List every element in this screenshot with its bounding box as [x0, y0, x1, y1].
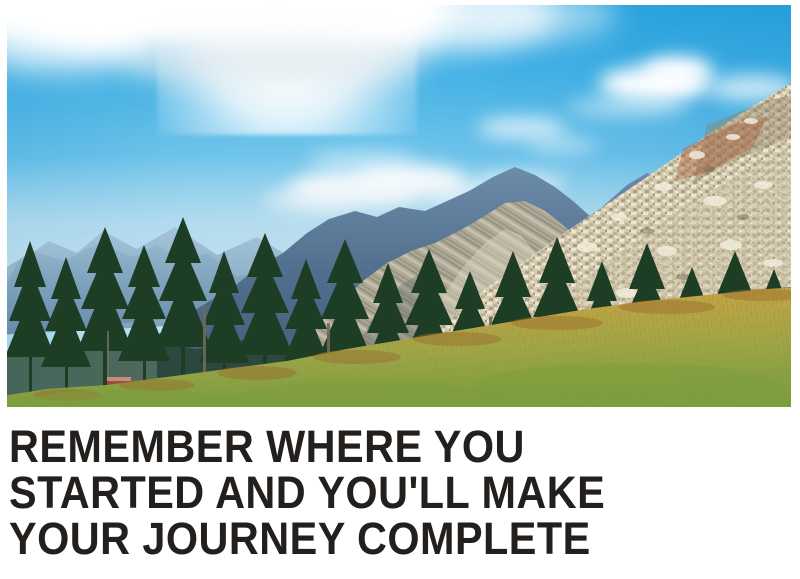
caption-line-2: STARTED AND YOU'LL MAKE	[9, 470, 727, 516]
landscape-svg	[7, 5, 791, 407]
caption-line-3: YOUR JOURNEY COMPLETE	[9, 516, 727, 562]
caption-block: REMEMBER WHERE YOU STARTED AND YOU'LL MA…	[9, 424, 789, 562]
caption-line-1: REMEMBER WHERE YOU	[9, 424, 727, 470]
motivational-poster: REMEMBER WHERE YOU STARTED AND YOU'LL MA…	[0, 0, 800, 579]
landscape-photo	[7, 5, 791, 407]
